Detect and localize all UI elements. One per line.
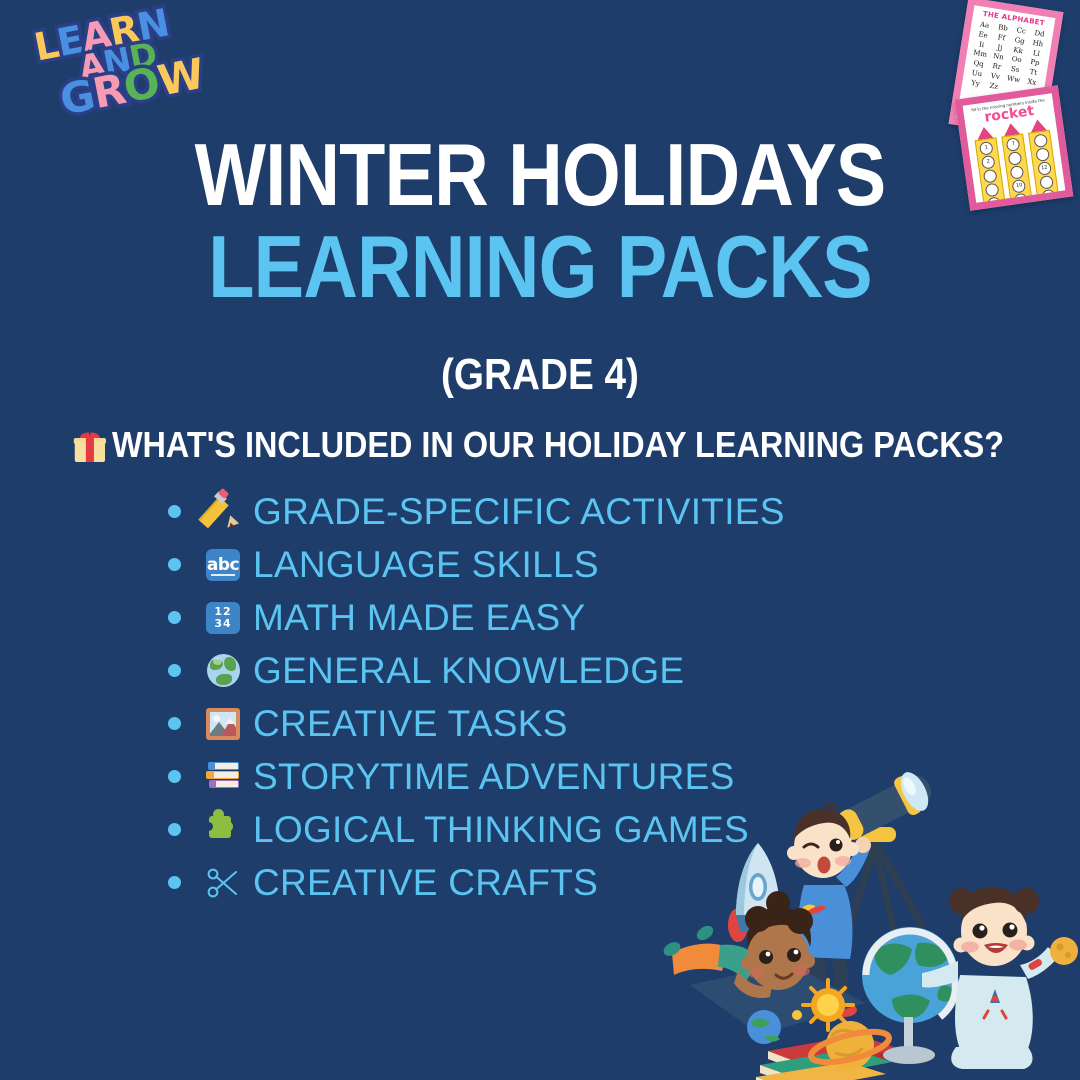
girl-in-astronaut-suit (922, 887, 1078, 1069)
numbers-icon: 1234 (203, 598, 243, 638)
globe-icon (203, 651, 243, 691)
children-space-learning-illustration (660, 735, 1080, 1080)
alphabet-letter-pair: Zz (984, 80, 1004, 92)
question-heading: WHAT'S INCLUDED IN OUR HOLIDAY LEARNING … (54, 424, 1026, 466)
logo-letter: W (155, 58, 206, 99)
list-item: GENERAL KNOWLEDGE (168, 644, 928, 697)
bullet-dot (168, 876, 181, 889)
list-item: abc LANGUAGE SKILLS (168, 538, 928, 591)
title-line-1: WINTER HOLIDAYS (76, 132, 1005, 218)
abc-icon: abc (203, 545, 243, 585)
scissors-icon (203, 863, 243, 903)
alphabet-letter-grid: AaBbCcDdEeFfGgHhIiJjKkLlMmNnOoPpQqRrSsTt… (962, 16, 1054, 98)
list-item-label: CREATIVE CRAFTS (253, 862, 598, 904)
question-heading-text: WHAT'S INCLUDED IN OUR HOLIDAY LEARNING … (112, 424, 1004, 465)
alphabet-letter-pair: Xx (1022, 77, 1042, 89)
title-line-2: LEARNING PACKS (76, 224, 1005, 310)
list-item-label: CREATIVE TASKS (253, 703, 568, 745)
list-item-label: GRADE-SPECIFIC ACTIVITIES (253, 491, 785, 533)
pencil-icon (203, 492, 243, 532)
alphabet-letter-pair: Yy (966, 78, 986, 90)
list-item-label: MATH MADE EASY (253, 597, 585, 639)
poster-canvas: LEARN AND GROW THE ALPHABET AaBbCcDdEeFf… (0, 0, 1080, 1080)
bullet-dot (168, 823, 181, 836)
bullet-dot (168, 717, 181, 730)
puzzle-icon (203, 810, 243, 850)
bullet-dot (168, 611, 181, 624)
list-item: 1234 MATH MADE EASY (168, 591, 928, 644)
books-icon (203, 757, 243, 797)
bullet-dot (168, 558, 181, 571)
page-title: WINTER HOLIDAYS LEARNING PACKS (0, 132, 1080, 310)
list-item-label: GENERAL KNOWLEDGE (253, 650, 684, 692)
list-item-label: LANGUAGE SKILLS (253, 544, 599, 586)
bullet-dot (168, 505, 181, 518)
bullet-dot (168, 770, 181, 783)
alphabet-letter-pair: Ww (1004, 74, 1024, 86)
picture-icon (203, 704, 243, 744)
list-item: GRADE-SPECIFIC ACTIVITIES (168, 485, 928, 538)
bullet-dot (168, 664, 181, 677)
gift-icon (74, 432, 108, 462)
grade-subtitle: (GRADE 4) (65, 350, 1015, 400)
